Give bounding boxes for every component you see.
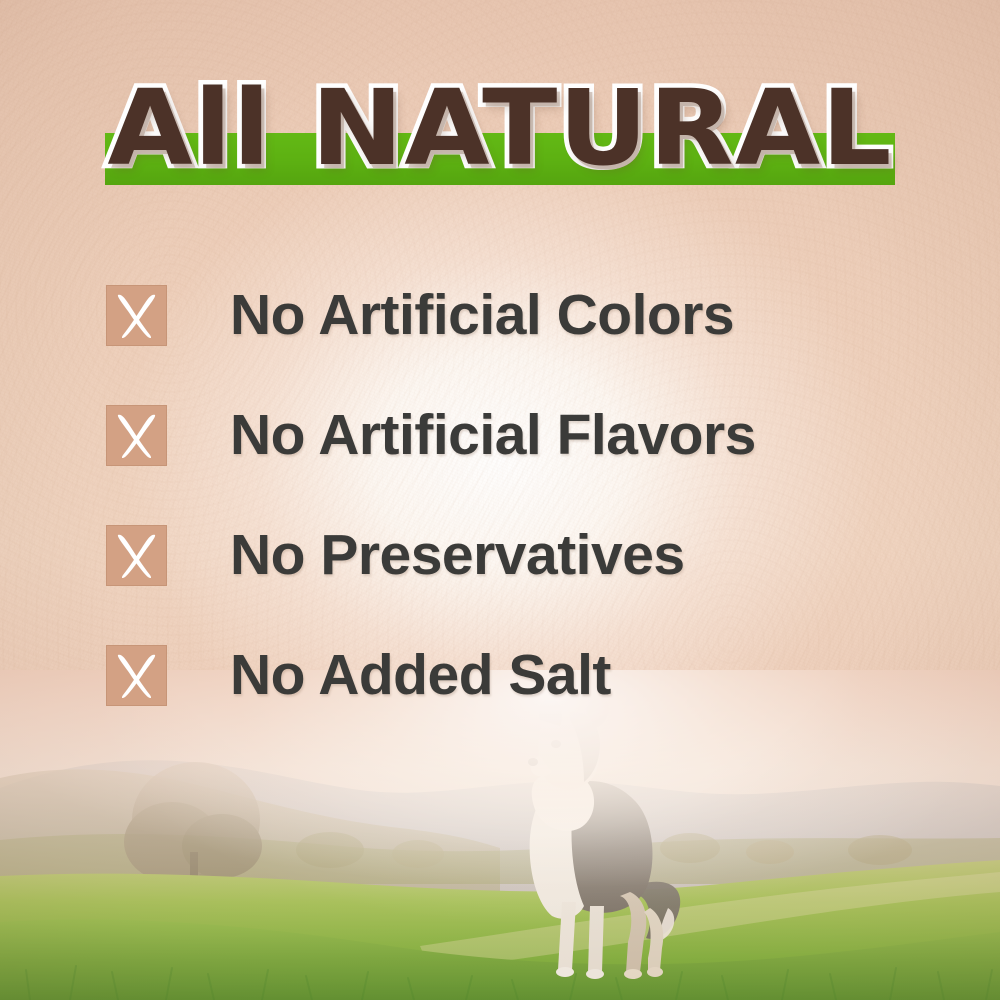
x-mark-checkbox (106, 285, 167, 346)
x-mark-icon (106, 525, 167, 586)
feature-list: No Artificial Colors No Artificial Flavo… (106, 255, 926, 735)
x-mark-icon (106, 405, 167, 466)
list-item: No Artificial Colors (106, 255, 926, 375)
x-mark-checkbox (106, 525, 167, 586)
feature-label: No Preservatives (230, 525, 926, 585)
headline-block: All NATURAL (0, 70, 1000, 200)
x-mark-checkbox (106, 645, 167, 706)
feature-label: No Artificial Flavors (230, 405, 926, 465)
list-item: No Added Salt (106, 615, 926, 735)
feature-label: No Artificial Colors (230, 285, 926, 345)
x-mark-icon (106, 645, 167, 706)
feature-label: No Added Salt (230, 645, 926, 705)
page-title: All NATURAL (0, 70, 1000, 186)
product-feature-graphic: All NATURAL No Artificial Colors No Arti… (0, 0, 1000, 1000)
list-item: No Preservatives (106, 495, 926, 615)
x-mark-icon (106, 285, 167, 346)
x-mark-checkbox (106, 405, 167, 466)
list-item: No Artificial Flavors (106, 375, 926, 495)
